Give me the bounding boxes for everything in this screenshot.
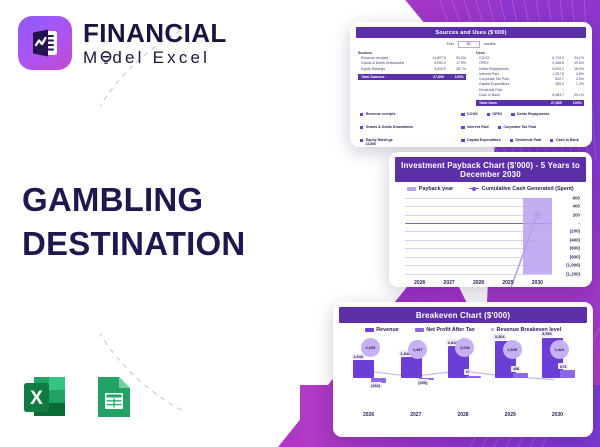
legend-label: Capital Expenditure — [467, 138, 501, 142]
revenue-label: 1,540 — [352, 354, 365, 360]
legend-item: Corporate Tax Paid — [498, 125, 536, 129]
x-axis-tick: 2026 — [345, 412, 392, 418]
period-prefix: First — [447, 42, 454, 46]
row-name: Equity Raisings — [358, 67, 420, 72]
legend-label: Dividends Paid — [515, 138, 541, 142]
legend-item-payback-year: Payback year — [407, 186, 453, 192]
x-axis-tick: 2026 — [405, 280, 434, 286]
breakeven-bubble: 2,639 — [361, 338, 380, 357]
uses-total-row: Total Uses 27,800 100% — [476, 100, 584, 106]
y-axis-tick: (600) — [552, 246, 580, 251]
sources-uses-bar-chart: 14,8085,0008,000 6,7195,4695,0001,258833… — [356, 144, 586, 147]
page-title: GAMBLING DESTINATION — [22, 178, 245, 265]
legend-label: Grants & Debts Drawdowns — [366, 125, 413, 129]
bar-label: 14,808 — [365, 142, 375, 146]
breakeven-plot-area: 1,540(462)2,6391,848(200)2,4972,819472,6… — [345, 340, 581, 418]
chart-document-icon — [28, 26, 62, 60]
y-axis-tick: (200) — [552, 229, 580, 234]
legend-label: Cash in Bank — [556, 138, 579, 142]
revenue-bar — [401, 357, 422, 378]
sources-total-row: Total Sources 27,800 100% — [358, 74, 466, 80]
uses-rows: COGS6,719.424.1%OPEX5,468.819.6%Debts Re… — [476, 56, 584, 98]
y-axis-tick: 400 — [552, 204, 580, 209]
x-axis-tick: 2027 — [392, 412, 439, 418]
sources-uses-tables: Sources Revenue receipts14,807.653.3%Gra… — [356, 51, 586, 106]
legend-item-revenue: Revenue — [365, 327, 399, 333]
sources-rows: Revenue receipts14,807.653.3%Grants & De… — [358, 56, 466, 72]
uses-table: Uses COGS6,719.424.1%OPEX5,468.819.6%Deb… — [476, 51, 584, 106]
uses-header: Uses — [476, 51, 584, 55]
breakeven-bubble: 2,423 — [550, 340, 569, 359]
y-axis-tick: (800) — [552, 254, 580, 259]
breakeven-bar-groups: 1,540(462)2,6391,848(200)2,4972,819472,6… — [345, 340, 581, 404]
revenue-label: 3,556 — [540, 331, 553, 337]
row-name: Cash in Bank — [476, 93, 538, 98]
legend-item: Debts Repayments — [511, 112, 549, 116]
breakeven-x-axis: 20262027202820292030 — [345, 412, 581, 418]
bar-group: 3,5566732,423 — [534, 340, 581, 404]
legend-item: Dividends Paid — [510, 138, 541, 142]
revenue-bar — [353, 360, 374, 377]
poster-canvas: FINANCIAL M del Excel GAMBLING DESTINATI… — [0, 0, 600, 447]
card-title-sources-and-uses: Sources and Uses ($'000) — [356, 27, 586, 38]
uses-legend: COGSOPEXDebts RepaymentsInterest PaidCor… — [461, 109, 582, 145]
y-axis-tick: 600 — [552, 195, 580, 200]
npat-label: 458 — [511, 366, 521, 372]
google-sheets-icon[interactable] — [87, 372, 137, 422]
brand-logo: FINANCIAL M del Excel — [18, 16, 227, 70]
period-selector-row: First 60 months — [356, 41, 586, 48]
sources-total-value: 27,800 — [418, 75, 444, 79]
legend-swatch — [461, 126, 464, 129]
x-axis-tick: 2030 — [523, 280, 552, 286]
y-axis-tick: (1,200) — [552, 271, 580, 276]
legend-swatch — [360, 126, 363, 129]
npat-label: 47 — [464, 369, 472, 375]
legend-item: Grants & Debts Drawdowns — [360, 125, 413, 129]
bar-group: 1,540(462)2,639 — [345, 340, 392, 404]
uses-total-pct: 100% — [562, 101, 584, 105]
npat-bar — [560, 370, 575, 378]
legend-label: Debts Repayments — [517, 112, 549, 116]
legend-swatch — [360, 113, 363, 116]
bar-group: 3,3044582,505 — [487, 340, 534, 404]
card-title-investment-payback: Investment Payback Chart ($'000) - 5 Yea… — [395, 157, 586, 182]
card-sources-and-uses: Sources and Uses ($'000) First 60 months… — [350, 22, 592, 147]
sources-total-pct: 100% — [444, 75, 466, 79]
payback-plot-area: 600400200-(200)(400)(600)(800)(1,000)(1,… — [401, 198, 582, 286]
legend-label-revenue: Revenue — [376, 327, 398, 333]
legend-swatch-breakeven-level — [491, 328, 494, 331]
legend-swatch-revenue — [365, 328, 374, 332]
payback-legend: Payback year Cumulative Cash Generated (… — [395, 182, 586, 194]
legend-swatch — [498, 126, 501, 129]
sources-total-label: Total Sources — [358, 75, 418, 79]
row-pct: 28.7% — [446, 67, 466, 72]
x-axis-tick: 2029 — [493, 280, 522, 286]
legend-label-payback-year: Payback year — [419, 186, 453, 192]
legend-swatch-npat — [415, 328, 424, 332]
card-investment-payback: Investment Payback Chart ($'000) - 5 Yea… — [389, 152, 592, 287]
legend-label: Corporate Tax Paid — [503, 125, 536, 129]
npat-bar — [466, 376, 481, 378]
payback-line-series — [405, 198, 552, 287]
legend-item-npat: Net Profit After Tax — [415, 327, 475, 333]
legend-item: Revenue receipts — [360, 112, 395, 116]
payback-y-axis: 600400200-(200)(400)(600)(800)(1,000)(1,… — [554, 198, 582, 274]
table-row: Cash in Bank8,484.730.1% — [476, 93, 584, 98]
page-title-line1: GAMBLING — [22, 178, 245, 222]
sources-table: Sources Revenue receipts14,807.653.3%Gra… — [358, 51, 466, 106]
legend-swatch — [510, 139, 513, 142]
breakeven-bubble: 2,497 — [408, 340, 427, 359]
lightbulb-icon — [100, 49, 112, 66]
y-axis-tick: (400) — [552, 237, 580, 242]
uses-total-label: Total Uses — [476, 101, 536, 105]
legend-label: OPEX — [492, 112, 502, 116]
file-format-icons: X — [20, 372, 137, 422]
legend-swatch — [461, 113, 464, 116]
legend-item-cumulative-cash: Cumulative Cash Generated (Spent) — [469, 186, 573, 192]
npat-label: 673 — [558, 363, 568, 369]
npat-label: (462) — [370, 382, 382, 388]
page-title-line2: DESTINATION — [22, 222, 245, 266]
bar-group: 2,819472,636 — [439, 340, 486, 404]
legend-swatch — [360, 139, 363, 142]
microsoft-excel-icon[interactable]: X — [20, 372, 70, 422]
legend-swatch — [511, 113, 514, 116]
sources-header: Sources — [358, 51, 466, 55]
legend-dash-cumulative-cash — [469, 188, 479, 189]
legend-item: Cash in Bank — [550, 138, 578, 142]
svg-text:X: X — [30, 388, 43, 409]
uses-total-value: 27,800 — [536, 101, 562, 105]
legend-label: COGS — [467, 112, 478, 116]
y-axis-tick: 200 — [552, 212, 580, 217]
legend-item: OPEX — [487, 112, 503, 116]
x-axis-tick: 2027 — [434, 280, 463, 286]
legend-label-cumulative-cash: Cumulative Cash Generated (Spent) — [482, 186, 574, 192]
legend-swatch-payback-year — [407, 187, 416, 191]
row-pct: 30.1% — [564, 93, 584, 98]
row-value: 8,000.0 — [420, 67, 446, 72]
x-axis-tick: 2028 — [464, 280, 493, 286]
payback-x-axis: 20262027202820292030 — [405, 280, 552, 286]
breakeven-bubble: 2,636 — [455, 338, 474, 357]
revenue-label: 3,304 — [493, 334, 506, 340]
legend-label: Revenue receipts — [366, 112, 396, 116]
breakeven-bubble: 2,505 — [503, 340, 522, 359]
period-months-input[interactable]: 60 — [458, 41, 480, 48]
npat-bar — [513, 373, 528, 378]
y-axis-tick: - — [552, 221, 580, 226]
period-suffix: months — [484, 42, 496, 46]
card-breakeven: Breakeven Chart ($'000) Revenue Net Prof… — [333, 302, 593, 437]
legend-item: Capital Expenditure — [461, 138, 500, 142]
bar-group: 1,848(200)2,497 — [392, 340, 439, 404]
row-value: 8,484.7 — [538, 93, 564, 98]
brand-name-line2: M del Excel — [83, 49, 227, 66]
legend-label-npat: Net Profit After Tax — [426, 327, 475, 333]
legend-swatch — [487, 113, 490, 116]
npat-label: (200) — [417, 379, 429, 385]
table-row: Equity Raisings8,000.028.7% — [358, 67, 466, 72]
x-axis-tick: 2029 — [487, 412, 534, 418]
legend-item: Interest Paid — [461, 125, 488, 129]
legend-label: Interest Paid — [467, 125, 489, 129]
sources-uses-legends: Revenue receiptsGrants & Debts Drawdowns… — [356, 106, 586, 145]
x-axis-tick: 2030 — [534, 412, 581, 418]
card-title-breakeven: Breakeven Chart ($'000) — [339, 307, 587, 323]
brand-name-line2-m: M — [83, 49, 100, 66]
logo-mark-icon — [18, 16, 72, 70]
y-axis-tick: (1,000) — [552, 263, 580, 268]
brand-name-line2-rest: del Excel — [112, 49, 210, 66]
x-axis-tick: 2028 — [439, 412, 486, 418]
legend-swatch — [461, 139, 464, 142]
brand-name-line1: FINANCIAL — [83, 20, 227, 46]
legend-swatch — [550, 139, 553, 142]
sources-legend: Revenue receiptsGrants & Debts Drawdowns… — [360, 109, 449, 145]
legend-item: COGS — [461, 112, 477, 116]
